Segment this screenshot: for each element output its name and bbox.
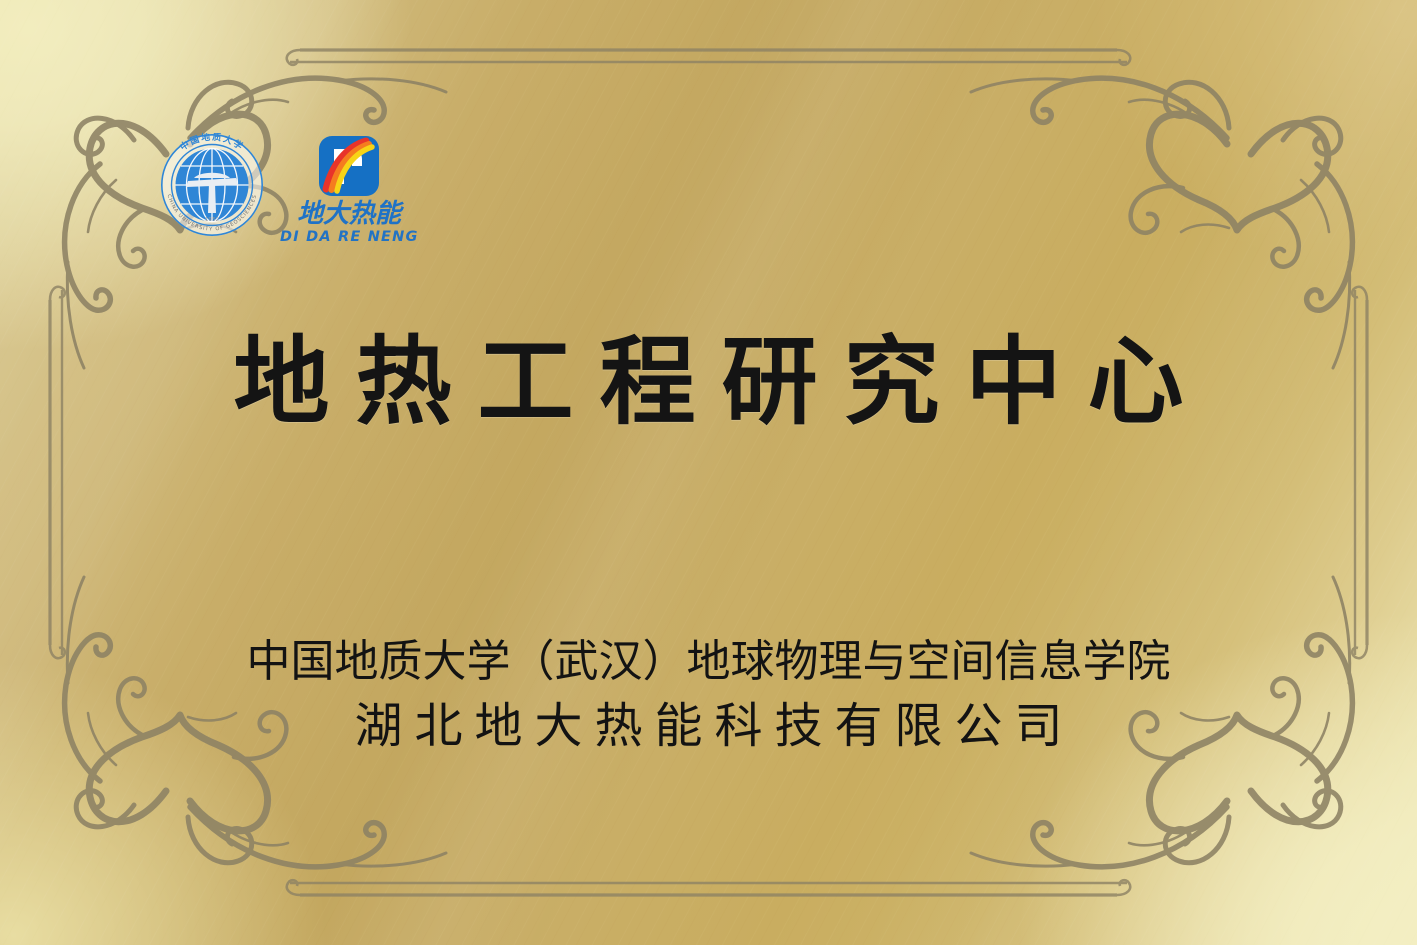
company-pinyin: DI DA RE NENG [280,230,419,245]
corner-ornament-top-right [971,78,1352,368]
plaque-subtitle-line1: 中国地质大学（武汉）地球物理与空间信息学院 [0,634,1417,690]
company-chinese-name: 地大热能 [283,198,415,228]
company-logo: 地大热能 DI DA RE NENG [280,135,419,245]
plaque-subtitle-block: 中国地质大学（武汉）地球物理与空间信息学院 湖北地大热能科技有限公司 [0,634,1417,758]
logo-group: 中国地质大学 CHINA UNIVERSITY OF GEOSCIENCES 1… [160,133,419,245]
svg-text:地大热能: 地大热能 [297,199,404,228]
seal-year: 1952 [205,217,219,223]
rainbow-swoosh-icon [318,135,380,197]
plaque-main-title: 地热工程研究中心 [0,332,1417,434]
university-seal-icon: 中国地质大学 CHINA UNIVERSITY OF GEOSCIENCES 1… [160,133,264,237]
plaque-subtitle-line2: 湖北地大热能科技有限公司 [0,696,1417,757]
award-plaque: 中国地质大学 CHINA UNIVERSITY OF GEOSCIENCES 1… [0,0,1417,945]
